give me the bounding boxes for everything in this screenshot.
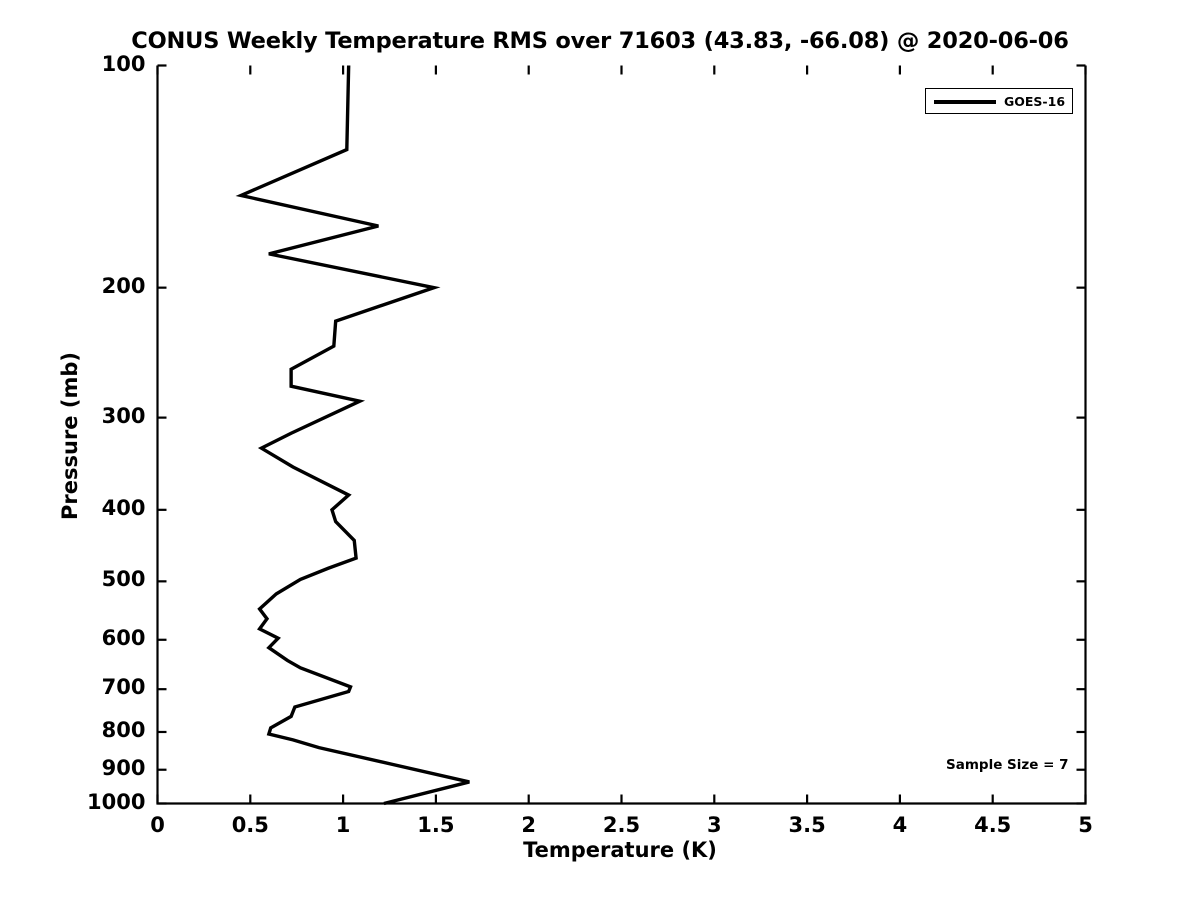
series-line-goes-16	[241, 66, 469, 804]
sample-size-annotation: Sample Size = 7	[946, 757, 1069, 773]
y-tick-label: 300	[26, 404, 146, 428]
y-tick-label: 500	[26, 567, 146, 591]
chart-figure: CONUS Weekly Temperature RMS over 71603 …	[0, 0, 1200, 900]
legend-line-swatch	[934, 100, 996, 104]
y-tick-label: 400	[26, 496, 146, 520]
y-tick-label: 700	[26, 675, 146, 699]
y-tick-label: 900	[26, 756, 146, 780]
y-tick-label: 100	[26, 52, 146, 76]
y-tick-label: 1000	[26, 790, 146, 814]
data-series-lines	[241, 66, 469, 804]
legend-entry-label: GOES-16	[1004, 94, 1065, 109]
legend[interactable]: GOES-16	[925, 88, 1073, 114]
x-tick-label: 5	[1026, 813, 1146, 837]
tick-marks	[158, 66, 1086, 804]
y-tick-label: 200	[26, 274, 146, 298]
y-tick-label: 600	[26, 626, 146, 650]
y-axis-title: Pressure (mb)	[58, 166, 82, 706]
axes-frame	[158, 66, 1086, 804]
x-axis-title: Temperature (K)	[0, 838, 1200, 862]
y-tick-label: 800	[26, 718, 146, 742]
